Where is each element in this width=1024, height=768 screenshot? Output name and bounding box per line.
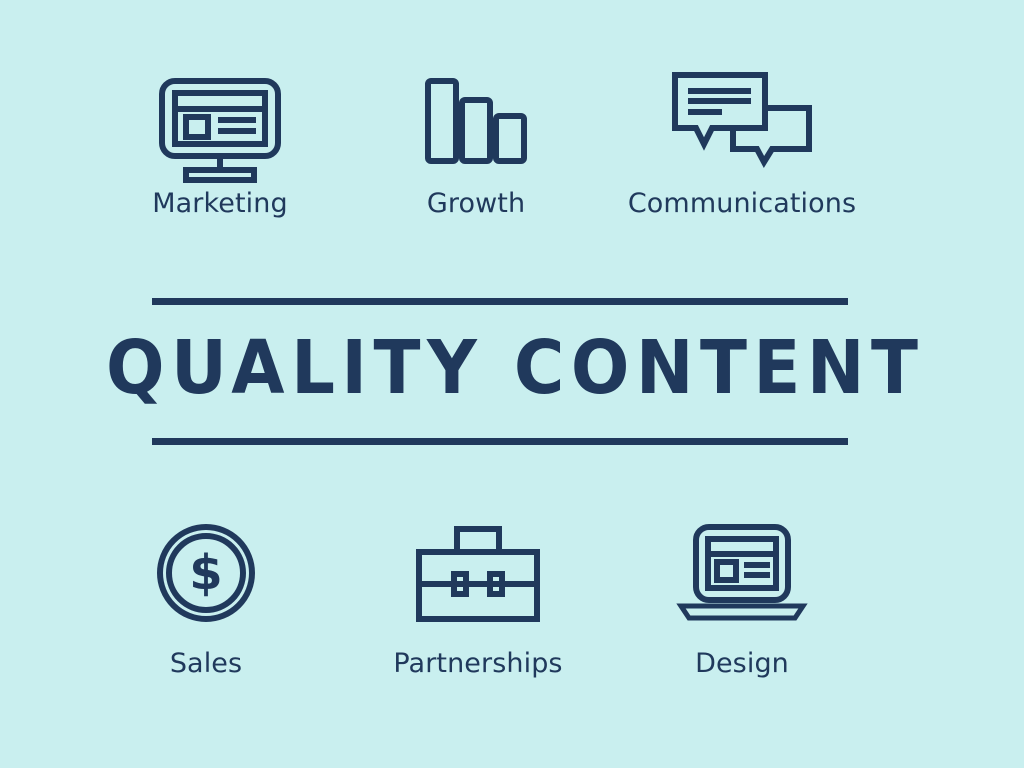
desktop-monitor-icon: [159, 54, 281, 164]
feature-label-growth: Growth: [427, 190, 525, 217]
feature-label-sales: Sales: [170, 650, 242, 677]
speech-bubbles-icon: [672, 54, 812, 164]
bar-chart-icon: [425, 54, 527, 164]
divider-line-top: [152, 298, 848, 305]
dollar-coin-icon: $: [157, 510, 255, 622]
laptop-icon: [678, 510, 806, 622]
poster-canvas: Marketing Growth: [0, 0, 1024, 768]
feature-item-sales[interactable]: $ Sales: [78, 510, 334, 700]
feature-label-partnerships: Partnerships: [393, 650, 562, 677]
briefcase-icon: [416, 510, 540, 622]
feature-item-partnerships[interactable]: Partnerships: [350, 510, 606, 700]
feature-item-growth[interactable]: Growth: [348, 54, 604, 244]
feature-item-communications[interactable]: Communications: [614, 54, 870, 244]
feature-label-design: Design: [695, 650, 789, 677]
bottom-icon-row: $ Sales Partnerships: [0, 510, 1024, 700]
page-title: QUALITY CONTENT: [36, 322, 988, 414]
feature-item-marketing[interactable]: Marketing: [92, 54, 348, 244]
feature-item-design[interactable]: Design: [614, 510, 870, 700]
feature-label-communications: Communications: [628, 190, 856, 217]
dollar-symbol: $: [189, 545, 222, 601]
divider-line-bottom: [152, 438, 848, 445]
feature-label-marketing: Marketing: [152, 190, 287, 217]
top-icon-row: Marketing Growth: [0, 54, 1024, 244]
title-block: QUALITY CONTENT: [0, 286, 1024, 454]
